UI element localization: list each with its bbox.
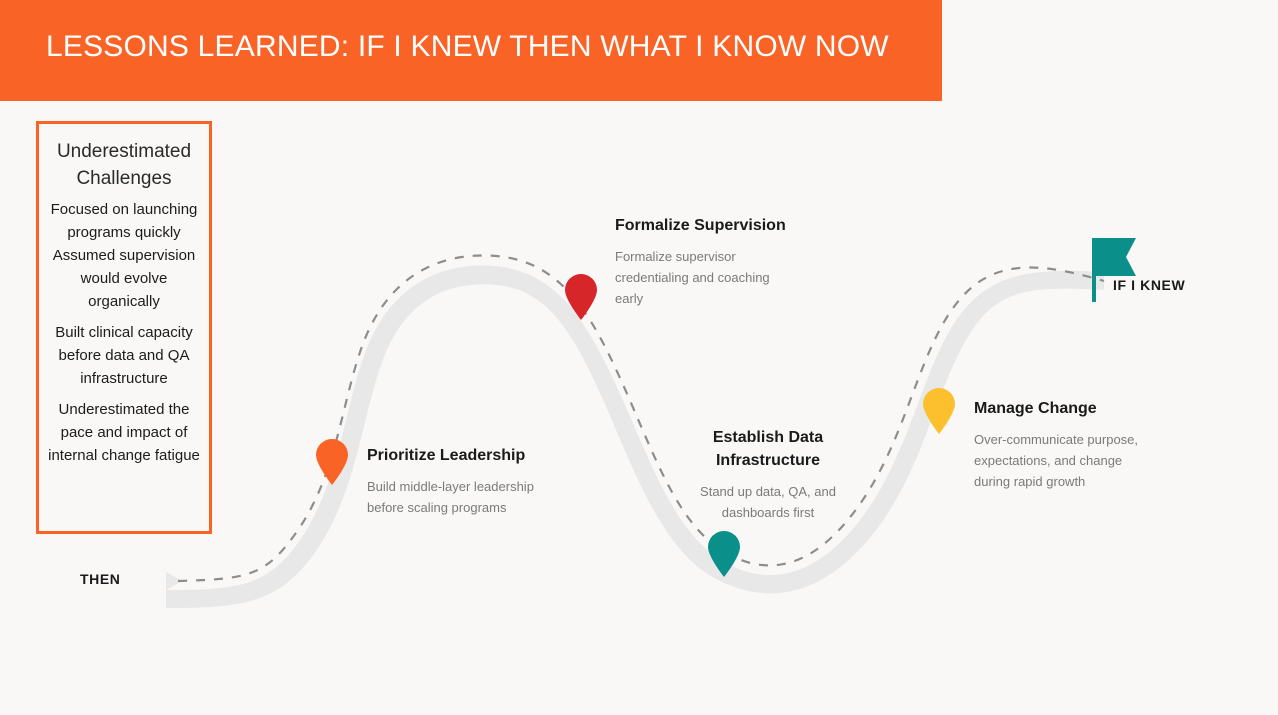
milestone-title: Manage Change — [974, 397, 1144, 420]
challenges-box-title: Underestimated Challenges — [47, 138, 201, 192]
challenge-item: Underestimated the pace and impact of in… — [47, 398, 201, 467]
milestone-description: Over-communicate purpose, expectations, … — [974, 429, 1144, 492]
slide-canvas: LESSONS LEARNED: IF I KNEW THEN WHAT I K… — [0, 0, 1278, 715]
milestone-establish-data-infrastructure: Establish Data Infrastructure Stand up d… — [683, 426, 853, 523]
challenge-item: Built clinical capacity before data and … — [47, 321, 201, 390]
underestimated-challenges-box: Underestimated Challenges Focused on lau… — [36, 121, 212, 534]
header-bar: LESSONS LEARNED: IF I KNEW THEN WHAT I K… — [0, 0, 942, 101]
milestone-manage-change: Manage Change Over-communicate purpose, … — [974, 397, 1144, 492]
roadmap-end-label: IF I KNEW — [1113, 277, 1185, 293]
milestone-description: Formalize supervisor credentialing and c… — [615, 246, 795, 309]
milestone-description: Build middle-layer leadership before sca… — [367, 476, 567, 518]
map-pin-formalize-supervision[interactable] — [563, 273, 599, 321]
milestone-description: Stand up data, QA, and dashboards first — [683, 481, 853, 523]
milestone-prioritize-leadership: Prioritize Leadership Build middle-layer… — [367, 444, 567, 518]
map-pin-prioritize-leadership[interactable] — [314, 438, 350, 486]
milestone-title: Prioritize Leadership — [367, 444, 567, 467]
milestone-title: Formalize Supervision — [615, 214, 795, 237]
milestone-formalize-supervision: Formalize Supervision Formalize supervis… — [615, 214, 795, 309]
challenge-item: Focused on launching programs quickly As… — [47, 198, 201, 313]
map-pin-establish-data-infrastructure[interactable] — [706, 530, 742, 578]
map-pin-manage-change[interactable] — [921, 387, 957, 435]
roadmap-start-label: THEN — [80, 571, 121, 587]
milestone-title: Establish Data Infrastructure — [683, 426, 853, 472]
page-title: LESSONS LEARNED: IF I KNEW THEN WHAT I K… — [46, 28, 916, 66]
